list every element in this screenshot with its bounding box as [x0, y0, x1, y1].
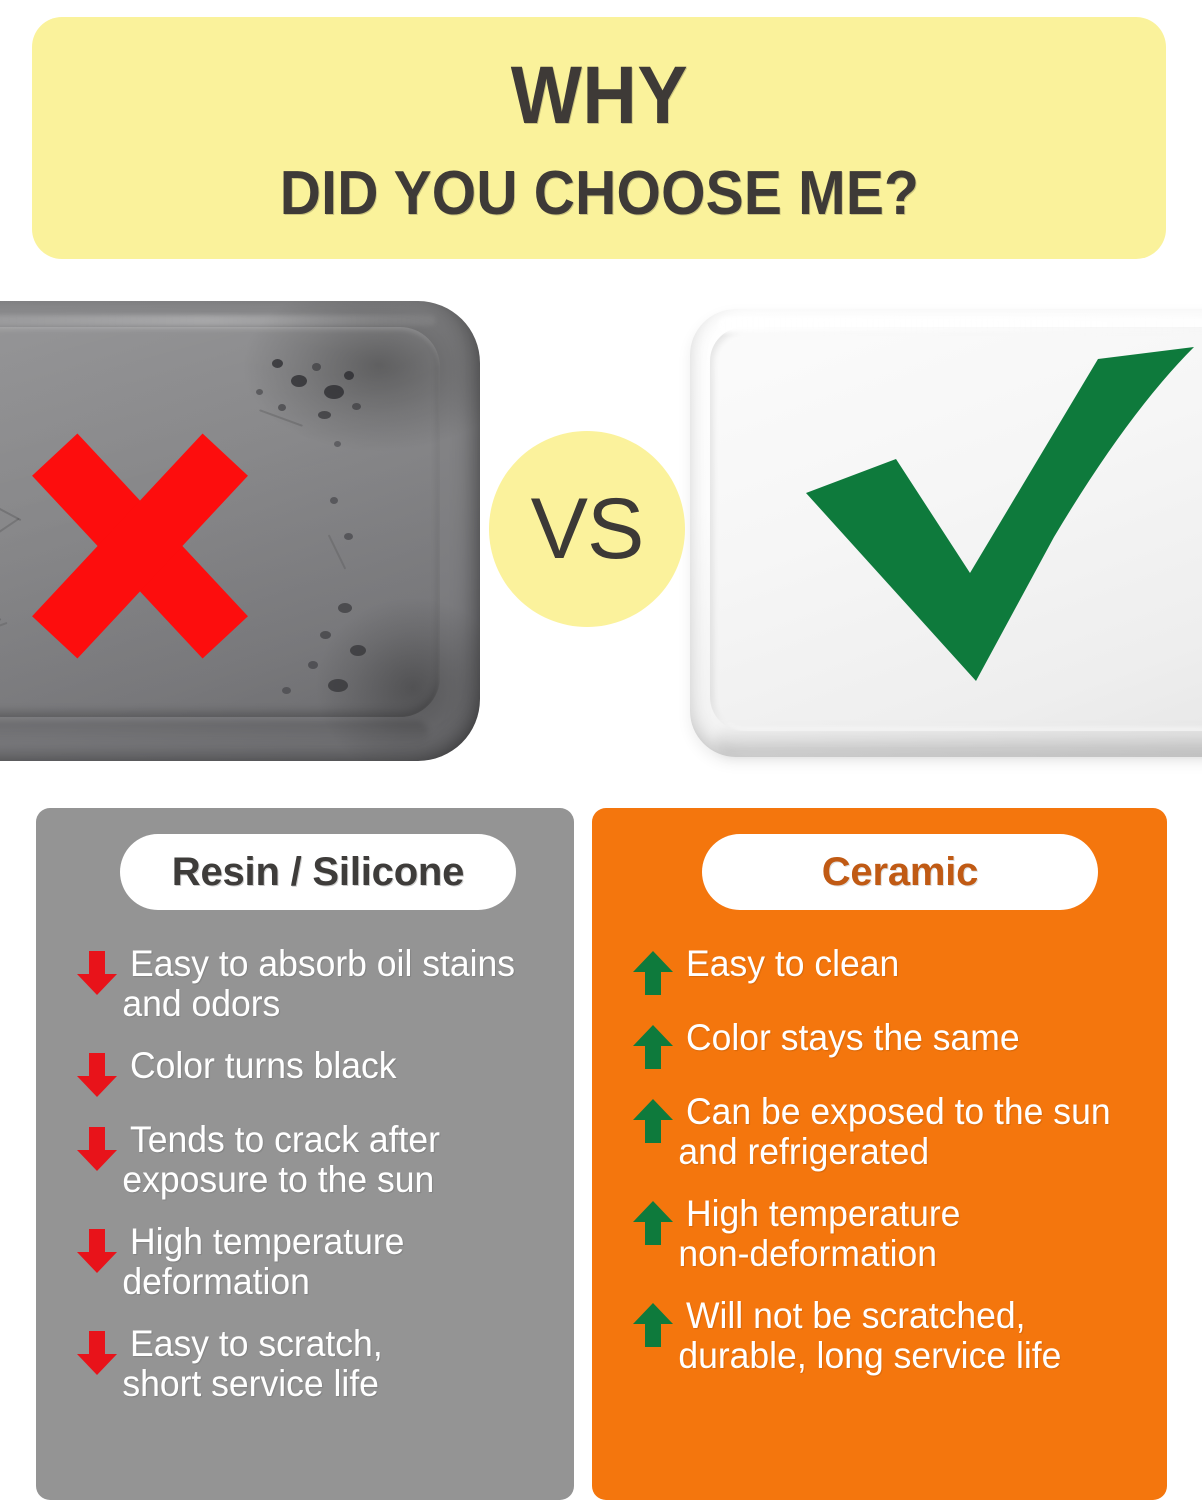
list-item: High temperaturedeformation: [54, 1222, 556, 1302]
cross-mark-icon: [15, 426, 265, 666]
feature-line-2: non-deformation: [678, 1234, 960, 1274]
feature-text: Tends to crack afterexposure to the sun: [130, 1120, 440, 1200]
panel-title-pill-right: Ceramic: [702, 834, 1098, 910]
feature-line-2: and odors: [122, 984, 515, 1024]
list-item: Easy to absorb oil stainsand odors: [54, 944, 556, 1024]
list-item: Tends to crack afterexposure to the sun: [54, 1120, 556, 1200]
panel-title-right: Ceramic: [822, 852, 978, 892]
feature-line-2: and refrigerated: [678, 1132, 1110, 1172]
feature-line-1: Can be exposed to the sun: [686, 1091, 1111, 1132]
arrow-down-icon: [76, 1126, 118, 1172]
panel-resin-silicone: Resin / Silicone Easy to absorb oil stai…: [36, 808, 574, 1500]
arrow-up-icon: [632, 1024, 674, 1070]
feature-line-1: Will not be scratched,: [686, 1295, 1026, 1336]
feature-line-1: Easy to scratch,: [130, 1323, 383, 1364]
feature-text: High temperaturedeformation: [130, 1222, 404, 1302]
arrow-up-icon: [632, 1098, 674, 1144]
oil-stain-speckle: [328, 679, 348, 692]
list-item: Can be exposed to the sunand refrigerate…: [610, 1092, 1149, 1172]
list-item: High temperaturenon-deformation: [610, 1194, 1149, 1274]
oil-stain-speckle: [256, 389, 263, 395]
arrow-up-icon: [632, 1200, 674, 1246]
oil-stain-speckle: [330, 497, 338, 504]
feature-line-1: Easy to clean: [686, 943, 899, 984]
arrow-down-icon: [76, 950, 118, 996]
feature-line-1: Easy to absorb oil stains: [130, 943, 515, 984]
feature-line-1: High temperature: [686, 1193, 960, 1234]
oil-stain-speckle: [350, 645, 366, 656]
tray-bottom-edge: [716, 725, 1202, 755]
arrow-up-icon: [632, 1302, 674, 1348]
oil-stain-speckle: [352, 403, 361, 410]
list-item: Easy to clean: [610, 944, 1149, 996]
list-item: Color stays the same: [610, 1018, 1149, 1070]
oil-stain-speckle: [291, 375, 307, 387]
panel-ceramic: Ceramic Easy to clean Color stays the sa…: [592, 808, 1167, 1500]
vs-badge: VS: [489, 431, 685, 627]
panel-title-left: Resin / Silicone: [172, 852, 464, 892]
oil-stain-speckle: [278, 404, 286, 411]
tray-rim-highlight: [0, 315, 436, 326]
panel-title-pill-left: Resin / Silicone: [120, 834, 516, 910]
list-item: Will not be scratched,durable, long serv…: [610, 1296, 1149, 1376]
page-title-line1: WHY: [510, 55, 687, 137]
oil-stain-speckle: [318, 411, 331, 419]
feature-text: Color stays the same: [686, 1018, 1020, 1058]
feature-text: Easy to clean: [686, 944, 899, 984]
resin-silicone-tray-image: [0, 301, 480, 761]
arrow-down-icon: [76, 1052, 118, 1098]
feature-list-right: Easy to clean Color stays the same Can b…: [610, 944, 1149, 1376]
feature-line-1: High temperature: [130, 1221, 404, 1262]
feature-line-1: Tends to crack after: [130, 1119, 440, 1160]
feature-text: Easy to scratch,short service life: [130, 1324, 383, 1404]
oil-stain-speckle: [272, 359, 283, 368]
arrow-down-icon: [76, 1228, 118, 1274]
check-mark-icon: [798, 341, 1198, 691]
feature-line-2: durable, long service life: [678, 1336, 1061, 1376]
page-title-line2: DID YOU CHOOSE ME?: [279, 163, 918, 225]
tray-bottom-edge: [0, 721, 428, 743]
product-comparison-hero: VS: [0, 259, 1202, 805]
arrow-down-icon: [76, 1330, 118, 1376]
feature-line-2: exposure to the sun: [122, 1160, 440, 1200]
tray-rim-highlight: [718, 317, 1202, 333]
feature-text: Will not be scratched,durable, long serv…: [686, 1296, 1061, 1376]
list-item: Easy to scratch,short service life: [54, 1324, 556, 1404]
oil-stain-speckle: [344, 371, 354, 380]
oil-stain-speckle: [324, 385, 344, 399]
oil-stain-speckle: [282, 687, 291, 694]
arrow-up-icon: [632, 950, 674, 996]
comparison-panels: Resin / Silicone Easy to absorb oil stai…: [0, 808, 1202, 1500]
list-item: Color turns black: [54, 1046, 556, 1098]
feature-text: Color turns black: [130, 1046, 397, 1086]
ceramic-tray-image: [690, 309, 1202, 757]
feature-list-left: Easy to absorb oil stainsand odors Color…: [54, 944, 556, 1404]
oil-stain-speckle: [312, 363, 321, 371]
feature-line-1: Color turns black: [130, 1045, 397, 1086]
vs-label: VS: [531, 486, 644, 572]
feature-line-2: deformation: [122, 1262, 404, 1302]
oil-stain-speckle: [320, 631, 331, 639]
feature-text: High temperaturenon-deformation: [686, 1194, 960, 1274]
oil-stain-speckle: [334, 441, 341, 447]
feature-text: Easy to absorb oil stainsand odors: [130, 944, 515, 1024]
oil-stain-speckle: [344, 533, 353, 540]
header-banner: WHY DID YOU CHOOSE ME?: [32, 17, 1166, 259]
feature-line-2: short service life: [122, 1364, 382, 1404]
oil-stain-speckle: [338, 603, 352, 613]
feature-line-1: Color stays the same: [686, 1017, 1020, 1058]
oil-stain-speckle: [308, 661, 318, 669]
infographic-page: WHY DID YOU CHOOSE ME?: [0, 0, 1202, 1500]
feature-text: Can be exposed to the sunand refrigerate…: [686, 1092, 1111, 1172]
